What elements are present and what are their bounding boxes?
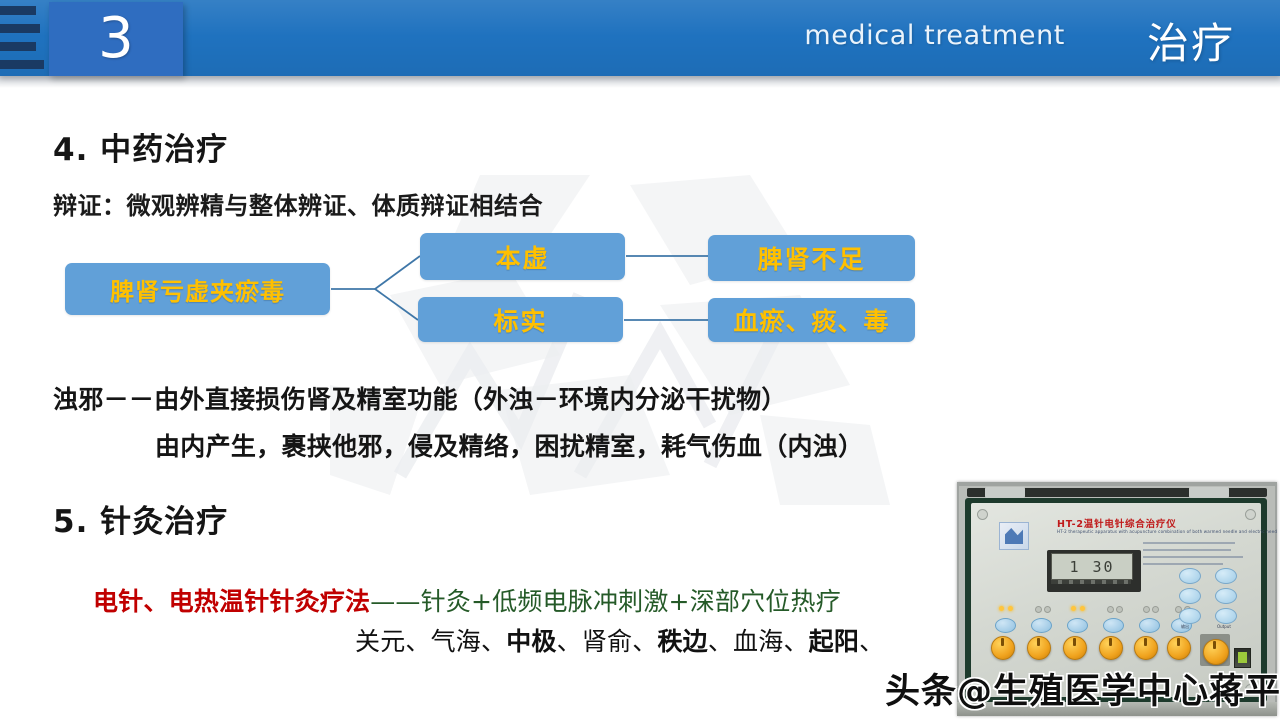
device-led-3b	[1080, 606, 1085, 611]
acupuncture-point-7: 血海、	[733, 627, 809, 656]
device-led-5b	[1152, 606, 1159, 613]
header-sheen	[0, 0, 1280, 76]
header-drop-shadow	[0, 76, 1280, 88]
device-right-button-c[interactable]	[1215, 608, 1237, 624]
device-lcd: 1 30	[1051, 553, 1133, 580]
diagram-box-root: 脾肾亏虚夹瘀毒	[65, 263, 330, 315]
heading-acupuncture-treatment: 5. 针灸治疗	[53, 496, 228, 541]
section-number-text: 3	[98, 11, 134, 67]
device-led-4a	[1107, 606, 1114, 613]
device-led-4b	[1116, 606, 1123, 613]
acupuncture-point-1: 气海、	[431, 627, 507, 656]
stripe-1	[0, 6, 36, 15]
device-channel-button-5[interactable]	[1139, 618, 1160, 633]
acupuncture-point-4: 肾俞、	[582, 627, 658, 656]
device-led-2b	[1044, 606, 1051, 613]
device-knob-3[interactable]	[1063, 636, 1087, 660]
acupuncture-therapy-name: 电针、电热温针针灸疗法	[93, 587, 370, 616]
device-led-3a	[1071, 606, 1076, 611]
device-spec-line-1	[1143, 542, 1235, 544]
device-right-group-label-left: 输出	[1181, 624, 1189, 630]
device-lcd-legend-strip	[1051, 580, 1131, 584]
device-lcd-right: 30	[1092, 558, 1114, 576]
header-title-english: medical treatment	[804, 20, 1065, 51]
device-channel-button-4[interactable]	[1103, 618, 1124, 633]
diagram-box-detail-1: 血瘀、痰、毒	[708, 298, 915, 342]
acupuncture-therapy-line: 电针、电热温针针灸疗法——针灸+低频电脉冲刺激+深部穴位热疗	[93, 582, 841, 618]
acupuncture-therapy-detail: ——针灸+低频电脉冲刺激+深部穴位热疗	[370, 587, 841, 616]
stripe-2	[0, 24, 40, 33]
device-model-title: HT-2温针电针综合治疗仪	[1057, 516, 1247, 530]
device-right-button-up[interactable]	[1179, 588, 1201, 604]
device-led-5a	[1143, 606, 1150, 613]
device-knob-1[interactable]	[991, 636, 1015, 660]
header-stripes-decoration	[0, 0, 48, 84]
acupuncture-point-2: 中极	[506, 627, 556, 656]
acupuncture-point-5: 秩边	[657, 627, 707, 656]
acupuncture-point-9: 、	[859, 627, 884, 656]
acupuncture-point-6: 、	[708, 627, 733, 656]
acupuncture-point-8: 起阳	[809, 627, 859, 656]
paragraph-turbid-evil-line1: 浊邪－－由外直接损伤肾及精室功能（外浊－环境内分泌干扰物）	[53, 380, 787, 416]
stripe-4	[0, 60, 44, 69]
diagram-box-branch-0: 本虚	[420, 233, 625, 280]
device-knob-2[interactable]	[1027, 636, 1051, 660]
device-hinge-left	[985, 487, 1025, 498]
device-knob-6[interactable]	[1167, 636, 1191, 660]
device-display-housing: 1 30	[1047, 550, 1141, 592]
paragraph-turbid-evil-line2: 由内产生，裹挟他邪，侵及精络，困扰精室，耗气伤血（内浊）	[155, 427, 863, 463]
watermark-bottom: 头条@生殖医学中心蒋平	[885, 663, 1280, 714]
device-knob-4[interactable]	[1099, 636, 1123, 660]
device-led-1b	[1008, 606, 1013, 611]
acupuncture-points-line: 关元、气海、中极、肾俞、秩边、血海、起阳、	[355, 622, 884, 658]
device-model-subtitle: HT-2 therapeutic apparatus with acupunct…	[1057, 529, 1247, 534]
device-master-knob[interactable]	[1203, 639, 1229, 665]
device-channel-button-2[interactable]	[1031, 618, 1052, 633]
device-led-1a	[999, 606, 1004, 611]
device-screw-tl	[977, 509, 988, 520]
device-right-button-t[interactable]	[1179, 568, 1201, 584]
device-knob-5[interactable]	[1134, 636, 1158, 660]
device-channel-button-1[interactable]	[995, 618, 1016, 633]
diagram-box-detail-0: 脾肾不足	[708, 235, 915, 281]
heading-tcm-treatment: 4. 中药治疗	[53, 124, 228, 169]
device-spec-line-4	[1143, 563, 1223, 565]
device-lcd-left: 1	[1069, 558, 1080, 576]
device-right-button-v[interactable]	[1215, 588, 1237, 604]
acupuncture-point-0: 关元、	[355, 627, 431, 656]
device-spec-line-2	[1143, 549, 1231, 551]
header-title-chinese: 治疗	[1147, 10, 1235, 71]
device-led-2a	[1035, 606, 1042, 613]
device-hinge-right	[1189, 487, 1229, 498]
device-right-button-d[interactable]	[1179, 608, 1201, 624]
device-channel-button-3[interactable]	[1067, 618, 1088, 633]
diagram-box-branch-1: 标实	[418, 297, 623, 342]
stripe-3	[0, 42, 36, 51]
slide-header-bar: 3 medical treatment 治疗	[0, 0, 1280, 76]
device-spec-line-3	[1143, 556, 1243, 558]
section-number-badge: 3	[49, 2, 183, 76]
device-right-group-label-right: Output	[1217, 624, 1231, 629]
device-brand-logo	[999, 522, 1029, 550]
acupuncture-point-3: 、	[557, 627, 582, 656]
device-right-button-a[interactable]	[1215, 568, 1237, 584]
tcm-dialectic-text: 辩证：微观辨精与整体辨证、体质辩证相结合	[53, 186, 543, 221]
slide-canvas: 3 medical treatment 治疗 4. 中药治疗 辩证：微观辨精与整…	[0, 0, 1280, 720]
